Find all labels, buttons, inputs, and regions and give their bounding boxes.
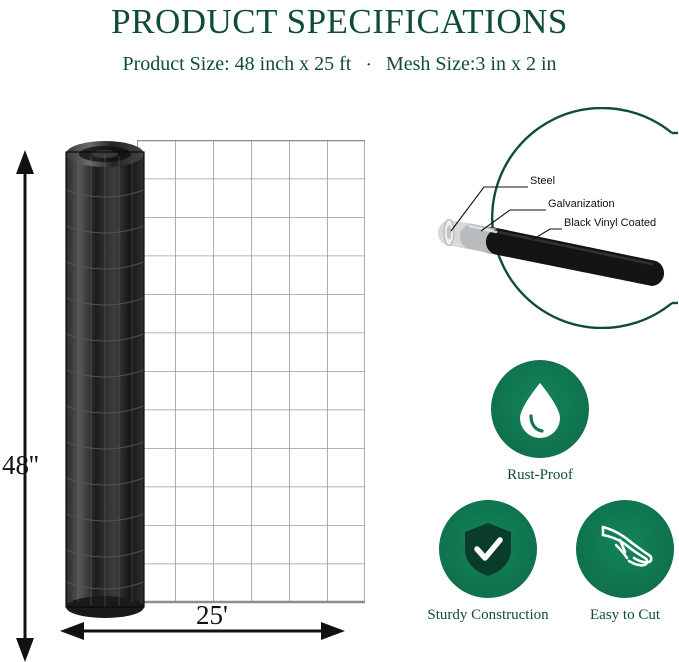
features-panel: Steel Galvanization Black Vinyl Coated R… [400, 105, 679, 650]
water-drop-icon [514, 380, 566, 438]
callout-steel-label: Steel [530, 175, 555, 187]
feature-sturdy-construction: Sturdy Construction [408, 500, 568, 624]
fence-illustration-panel: 48'' [0, 105, 400, 650]
subtitle-separator: · [365, 54, 372, 77]
wire-mesh-grid [137, 140, 365, 612]
sturdy-construction-badge [439, 500, 537, 598]
shield-check-icon [461, 520, 515, 578]
rust-proof-label: Rust-Proof [480, 467, 600, 484]
feature-easy-to-cut: Easy to Cut [560, 500, 679, 624]
height-dimension-arrow [14, 150, 36, 662]
feature-rust-proof: Rust-Proof [480, 360, 600, 484]
wire-cross-section-diagram: Steel Galvanization Black Vinyl Coated [420, 107, 678, 329]
height-dimension-label: 48'' [2, 450, 39, 481]
pliers-icon [594, 521, 656, 577]
callout-vinyl-label: Black Vinyl Coated [564, 217, 656, 229]
page-title: PRODUCT SPECIFICATIONS [0, 2, 679, 42]
callout-galvanization-label: Galvanization [548, 198, 615, 210]
easy-to-cut-label: Easy to Cut [560, 607, 679, 624]
product-specifications-infographic: PRODUCT SPECIFICATIONS Product Size: 48 … [0, 0, 679, 650]
fence-roll [60, 130, 150, 620]
rust-proof-badge [491, 360, 589, 458]
mesh-size-label: Mesh Size:3 in x 2 in [386, 53, 557, 75]
width-dimension-label: 25' [196, 600, 228, 631]
easy-to-cut-badge [576, 500, 674, 598]
product-size-label: Product Size: 48 inch x 25 ft [122, 53, 351, 75]
page-subtitle: Product Size: 48 inch x 25 ft·Mesh Size:… [0, 53, 679, 77]
sturdy-construction-label: Sturdy Construction [408, 607, 568, 624]
